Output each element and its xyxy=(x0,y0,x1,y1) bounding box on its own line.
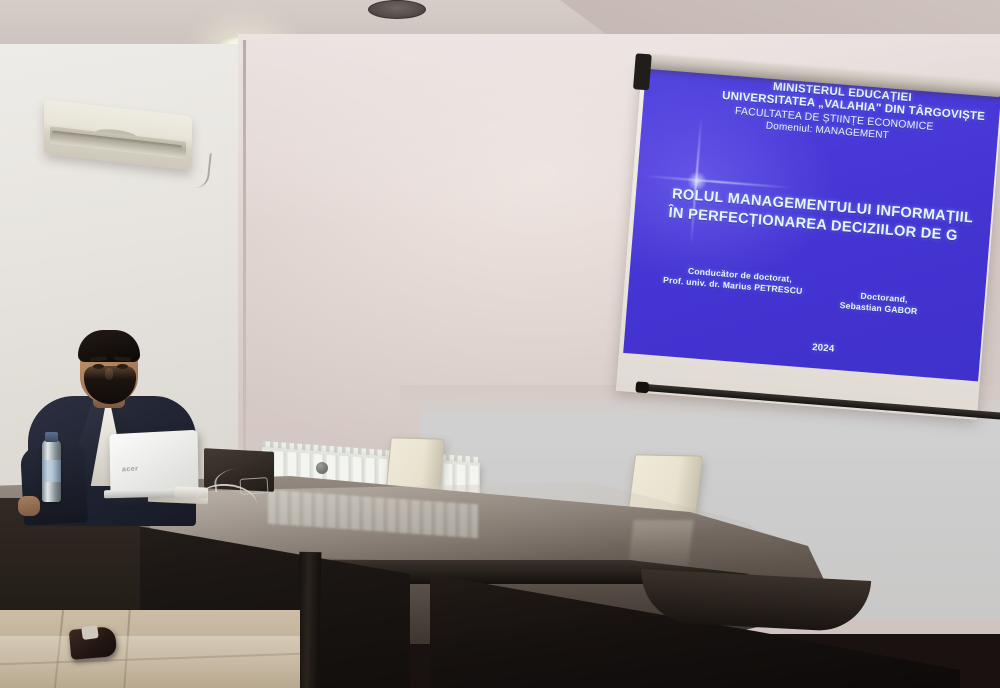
wall-corner-seam xyxy=(243,40,246,520)
ceiling-speaker-icon xyxy=(368,0,426,19)
water-bottle-cap[interactable] xyxy=(45,432,58,442)
presentation-room-photo: MINISTERUL EDUCAȚIEI UNIVERSITATEA „VALA… xyxy=(0,0,1000,688)
presenter-hand xyxy=(18,496,40,516)
projected-slide: MINISTERUL EDUCAȚIEI UNIVERSITATEA „VALA… xyxy=(623,65,1000,382)
floor-reflection xyxy=(0,636,300,688)
sock xyxy=(81,625,99,640)
screen-roller-cap xyxy=(633,53,652,90)
slide-text-block: MINISTERUL EDUCAȚIEI UNIVERSITATEA „VALA… xyxy=(623,65,1000,382)
desk-stand xyxy=(239,477,268,495)
presenter-nose xyxy=(105,368,113,380)
water-bottle-label xyxy=(42,460,61,482)
presenter-hair xyxy=(78,330,140,362)
table-leg xyxy=(297,552,322,688)
presenter-eye-right xyxy=(117,364,128,369)
projector-screen: MINISTERUL EDUCAȚIEI UNIVERSITATEA „VALA… xyxy=(628,28,1000,414)
radiator-valve-icon[interactable] xyxy=(316,462,328,474)
laptop-brand-logo: acer xyxy=(122,466,142,475)
slide-year: 2024 xyxy=(812,342,835,355)
screen-weight-bar-cap xyxy=(635,381,649,393)
presenter-eye-left xyxy=(93,364,104,369)
